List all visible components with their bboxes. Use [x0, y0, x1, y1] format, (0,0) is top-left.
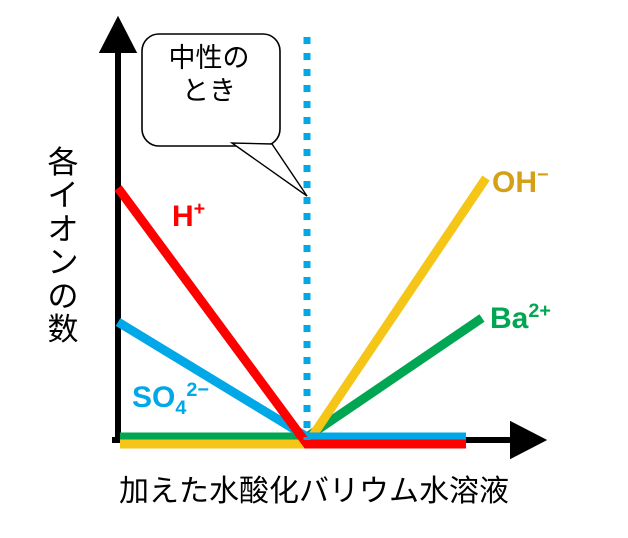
series-label-so4-subscript: 4 — [175, 397, 186, 419]
series-label-so4: SO42− — [132, 381, 209, 415]
series-label-h-charge: + — [194, 198, 206, 220]
series-label-ba: Ba2+ — [490, 302, 551, 336]
series-line-ba — [120, 318, 482, 437]
plot-area — [0, 0, 628, 538]
series-label-so4-formula: SO — [132, 381, 175, 414]
y-axis-label: 各 イ オ ン の 数 — [32, 146, 94, 347]
ion-count-graph-figure: 各 イ オ ン の 数 加えた水酸化バリウム水溶液 中性の とき H+ SO42… — [0, 0, 628, 538]
series-label-h-formula: H — [172, 200, 194, 233]
series-label-ba-charge: 2+ — [528, 300, 551, 322]
series-label-h: H+ — [172, 200, 205, 234]
series-label-oh-charge: − — [537, 164, 549, 186]
callout-pointer-tail — [232, 143, 307, 196]
x-axis-label: 加えた水酸化バリウム水溶液 — [0, 466, 628, 510]
series-label-oh: OH− — [492, 166, 549, 200]
callout-label: 中性の とき — [148, 42, 270, 108]
series-label-oh-formula: OH — [492, 166, 537, 199]
series-label-ba-formula: Ba — [490, 302, 528, 335]
series-label-so4-charge: 2− — [186, 379, 209, 401]
